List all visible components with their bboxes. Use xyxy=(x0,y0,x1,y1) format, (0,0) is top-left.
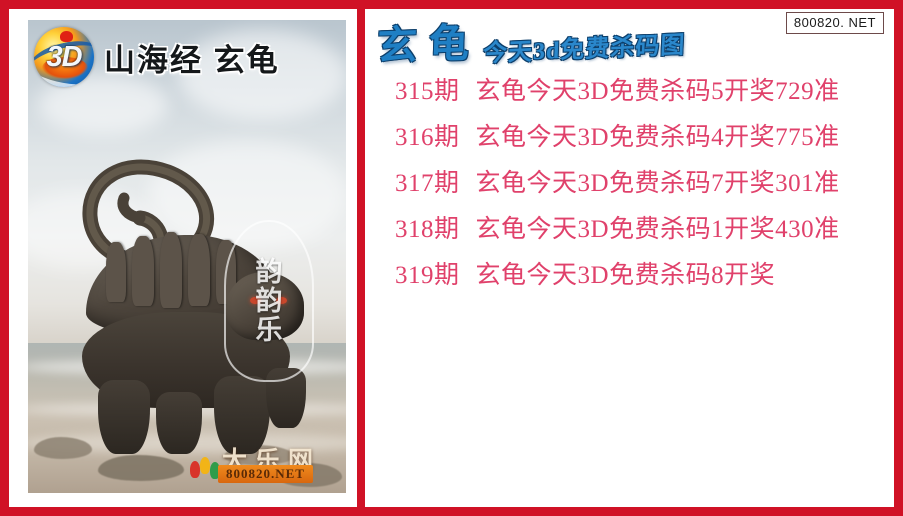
right-panel: 玄龟 今天3d免费杀码图 800820. NET 315期玄龟今天3D免费杀码5… xyxy=(365,9,894,507)
result-row: 317期玄龟今天3D免费杀码7开奖301准 xyxy=(395,171,886,196)
result-issue: 315期 xyxy=(395,78,460,105)
result-issue: 318期 xyxy=(395,216,460,243)
brand-subtitle: 今天3d免费杀码图 xyxy=(483,34,686,67)
shell-ridge xyxy=(106,242,126,302)
right-panel-header: 玄龟 今天3d免费杀码图 800820. NET xyxy=(373,13,886,65)
shell-ridge xyxy=(132,236,154,306)
poster-header: 3D 山海经 玄龟 xyxy=(28,20,346,94)
watermark-url: 800820.NET xyxy=(218,465,313,483)
left-panel: 韵 韵 乐 大乐网 800820.NET 3D 山海经 玄龟 xyxy=(9,9,357,507)
bottom-watermark: 大乐网 800820.NET xyxy=(196,441,346,487)
result-text: 玄龟今天3D免费杀码1开奖430准 xyxy=(476,216,840,243)
poster-image: 韵 韵 乐 大乐网 800820.NET 3D 山海经 玄龟 xyxy=(28,20,346,493)
frame-border-top xyxy=(0,0,903,9)
site-badge: 800820. NET xyxy=(786,12,884,34)
result-text: 玄龟今天3D免费杀码4开奖775准 xyxy=(476,124,840,151)
seal-char: 韵 xyxy=(256,288,283,315)
seal-watermark: 韵 韵 乐 xyxy=(224,220,314,382)
result-text: 玄龟今天3D免费杀码7开奖301准 xyxy=(476,170,840,197)
frame-border-left xyxy=(0,0,9,516)
result-issue: 317期 xyxy=(395,170,460,197)
shell-ridge xyxy=(160,232,182,308)
result-issue: 316期 xyxy=(395,124,460,151)
panel-divider xyxy=(357,0,365,516)
result-issue: 319期 xyxy=(395,262,460,289)
result-row: 319期玄龟今天3D免费杀码8开奖 xyxy=(395,263,886,288)
frame-border-right xyxy=(894,0,903,516)
shell-ridge xyxy=(188,234,210,306)
seal-char: 乐 xyxy=(256,317,283,344)
frame-border-bottom xyxy=(0,507,903,516)
page-root: 韵 韵 乐 大乐网 800820.NET 3D 山海经 玄龟 xyxy=(0,0,903,516)
result-list: 315期玄龟今天3D免费杀码5开奖729准 316期玄龟今天3D免费杀码4开奖7… xyxy=(373,79,886,288)
lottery-3d-logo-icon: 3D xyxy=(34,27,94,87)
logo-text: 3D xyxy=(34,27,94,87)
result-row: 316期玄龟今天3D免费杀码4开奖775准 xyxy=(395,125,886,150)
brand-title: 玄龟 xyxy=(376,23,481,67)
result-text: 玄龟今天3D免费杀码8开奖 xyxy=(476,262,776,289)
turtle-leg xyxy=(98,380,150,454)
result-text: 玄龟今天3D免费杀码5开奖729准 xyxy=(476,78,840,105)
result-row: 315期玄龟今天3D免费杀码5开奖729准 xyxy=(395,79,886,104)
seal-char: 韵 xyxy=(256,259,283,286)
result-row: 318期玄龟今天3D免费杀码1开奖430准 xyxy=(395,217,886,242)
poster-title: 山海经 玄龟 xyxy=(104,35,280,80)
